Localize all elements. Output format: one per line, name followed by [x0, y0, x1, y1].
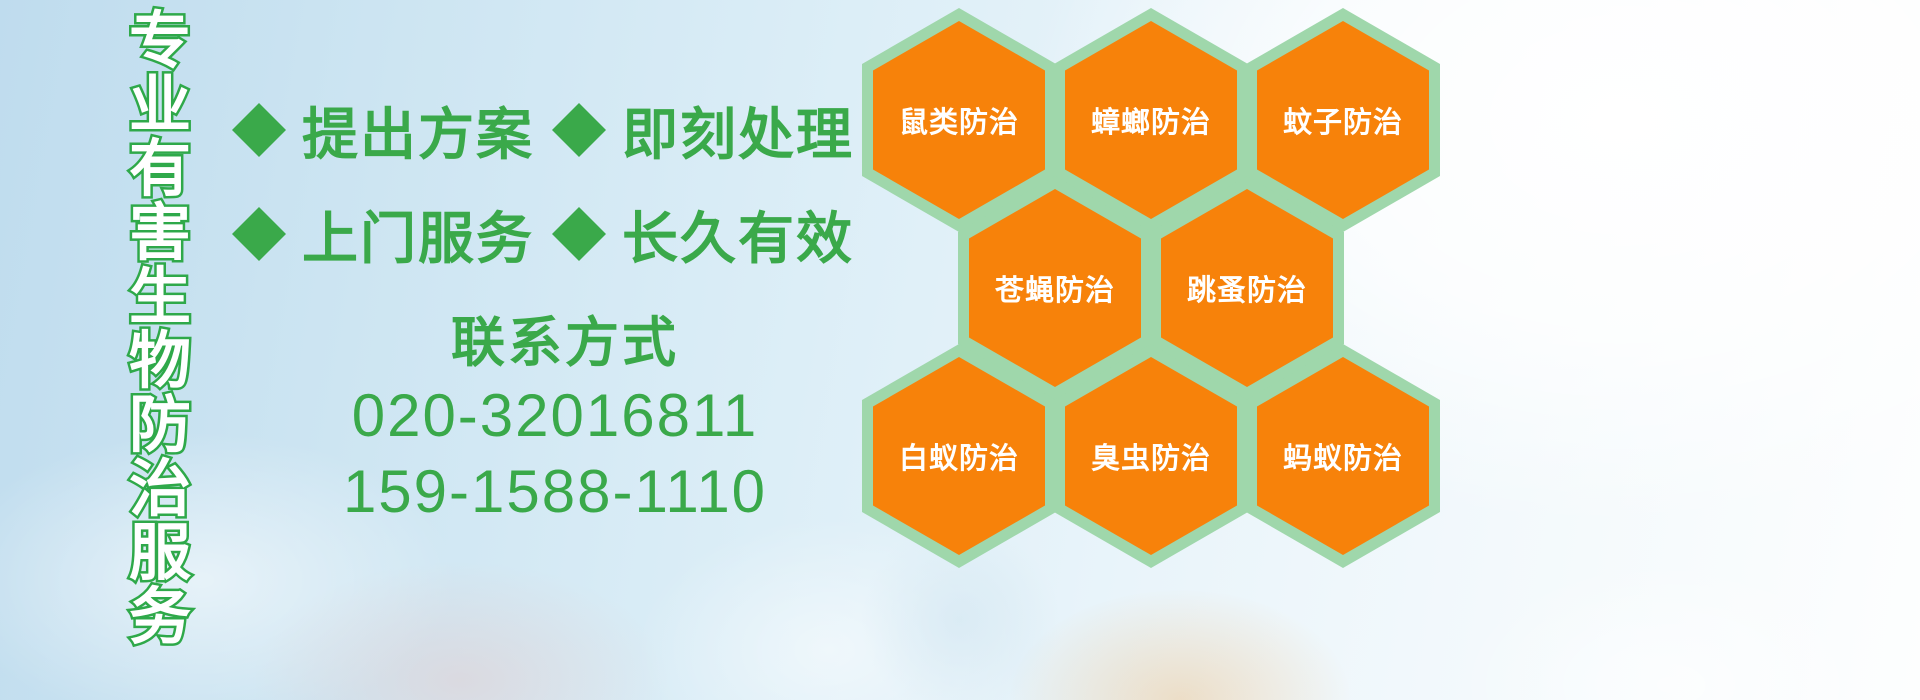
service-label: 跳蚤防治	[1187, 267, 1307, 309]
feature-label: 提出方案	[302, 90, 534, 171]
service-label: 苍蝇防治	[995, 267, 1115, 309]
headline-char: 有	[129, 140, 191, 204]
headline-char: 业	[129, 76, 191, 140]
service-label: 蚊子防治	[1283, 99, 1403, 141]
headline-char: 专	[129, 12, 191, 76]
feature-label: 上门服务	[302, 194, 534, 275]
contact-phone-mobile[interactable]: 159-1588-1110	[238, 454, 872, 531]
feature-item-onsite-service: 上门服务	[232, 194, 534, 275]
diamond-icon	[232, 76, 286, 130]
vertical-headline: 专 业 有 害 生 物 防 治 服 务	[112, 12, 208, 652]
feature-item-proposal: 提出方案	[232, 90, 534, 171]
headline-char: 生	[129, 268, 191, 332]
contact-phone-landline[interactable]: 020-32016811	[238, 378, 872, 455]
service-label: 白蚁防治	[899, 435, 1019, 477]
background-haze-blob	[250, 560, 670, 700]
feature-label: 即刻处理	[622, 90, 854, 171]
headline-char: 防	[129, 396, 191, 460]
feature-list: 提出方案 即刻处理 上门服务 长久有效	[232, 78, 872, 286]
service-honeycomb: 鼠类防治 蟑螂防治 蚊子防治 苍蝇防治 跳蚤防治 白蚁防治 臭虫防治	[862, 8, 1462, 568]
diamond-icon	[232, 180, 286, 234]
headline-char: 物	[129, 332, 191, 396]
feature-item-immediate-handling: 即刻处理	[552, 90, 854, 171]
service-label: 鼠类防治	[899, 99, 1019, 141]
feature-row: 上门服务 长久有效	[232, 182, 872, 286]
background-haze-blob	[1460, 560, 1880, 700]
service-label: 臭虫防治	[1091, 435, 1211, 477]
contact-block: 联系方式 020-32016811 159-1588-1110	[232, 310, 872, 531]
contact-heading: 联系方式	[258, 310, 872, 378]
headline-char: 务	[129, 588, 191, 652]
service-label: 蚂蚁防治	[1283, 435, 1403, 477]
headline-char: 服	[129, 524, 191, 588]
background-haze-blob	[1010, 590, 1350, 700]
headline-char: 治	[129, 460, 191, 524]
feature-item-long-lasting: 长久有效	[552, 194, 854, 275]
headline-char: 害	[129, 204, 191, 268]
feature-row: 提出方案 即刻处理	[232, 78, 872, 182]
pest-control-banner: 专 业 有 害 生 物 防 治 服 务 提出方案 即刻处理 上门服务	[0, 0, 1920, 700]
diamond-icon	[552, 76, 606, 130]
diamond-icon	[552, 180, 606, 234]
feature-label: 长久有效	[622, 194, 854, 275]
service-label: 蟑螂防治	[1091, 99, 1211, 141]
